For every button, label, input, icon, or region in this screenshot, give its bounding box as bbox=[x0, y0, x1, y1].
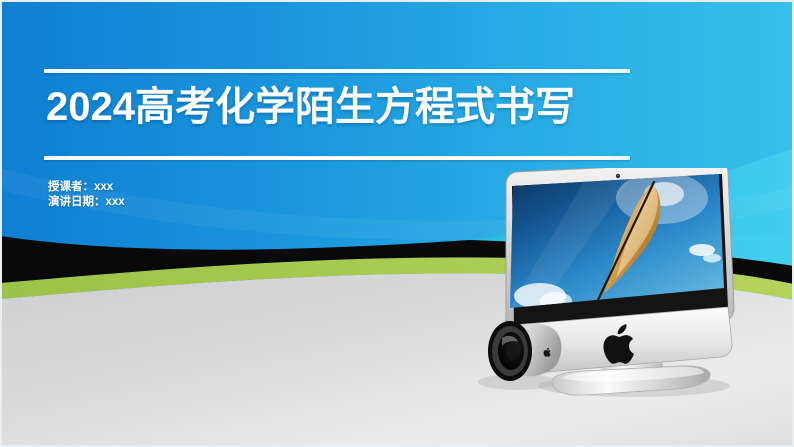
title-rule-top bbox=[44, 69, 630, 73]
presenter-line: 授课者：xxx bbox=[48, 180, 125, 195]
screen-cloud-right-2 bbox=[703, 254, 721, 263]
presentation-slide: 2024高考化学陌生方程式书写 授课者：xxx 演讲日期：xxx bbox=[0, 0, 794, 447]
date-line: 演讲日期：xxx bbox=[48, 195, 125, 210]
speaker-dust-cap bbox=[506, 342, 518, 360]
slide-meta: 授课者：xxx 演讲日期：xxx bbox=[48, 180, 125, 210]
page-title: 2024高考化学陌生方程式书写 bbox=[46, 82, 575, 132]
webcam-highlight bbox=[617, 175, 619, 177]
title-rule-bottom bbox=[44, 156, 630, 160]
imac-illustration bbox=[466, 168, 794, 447]
